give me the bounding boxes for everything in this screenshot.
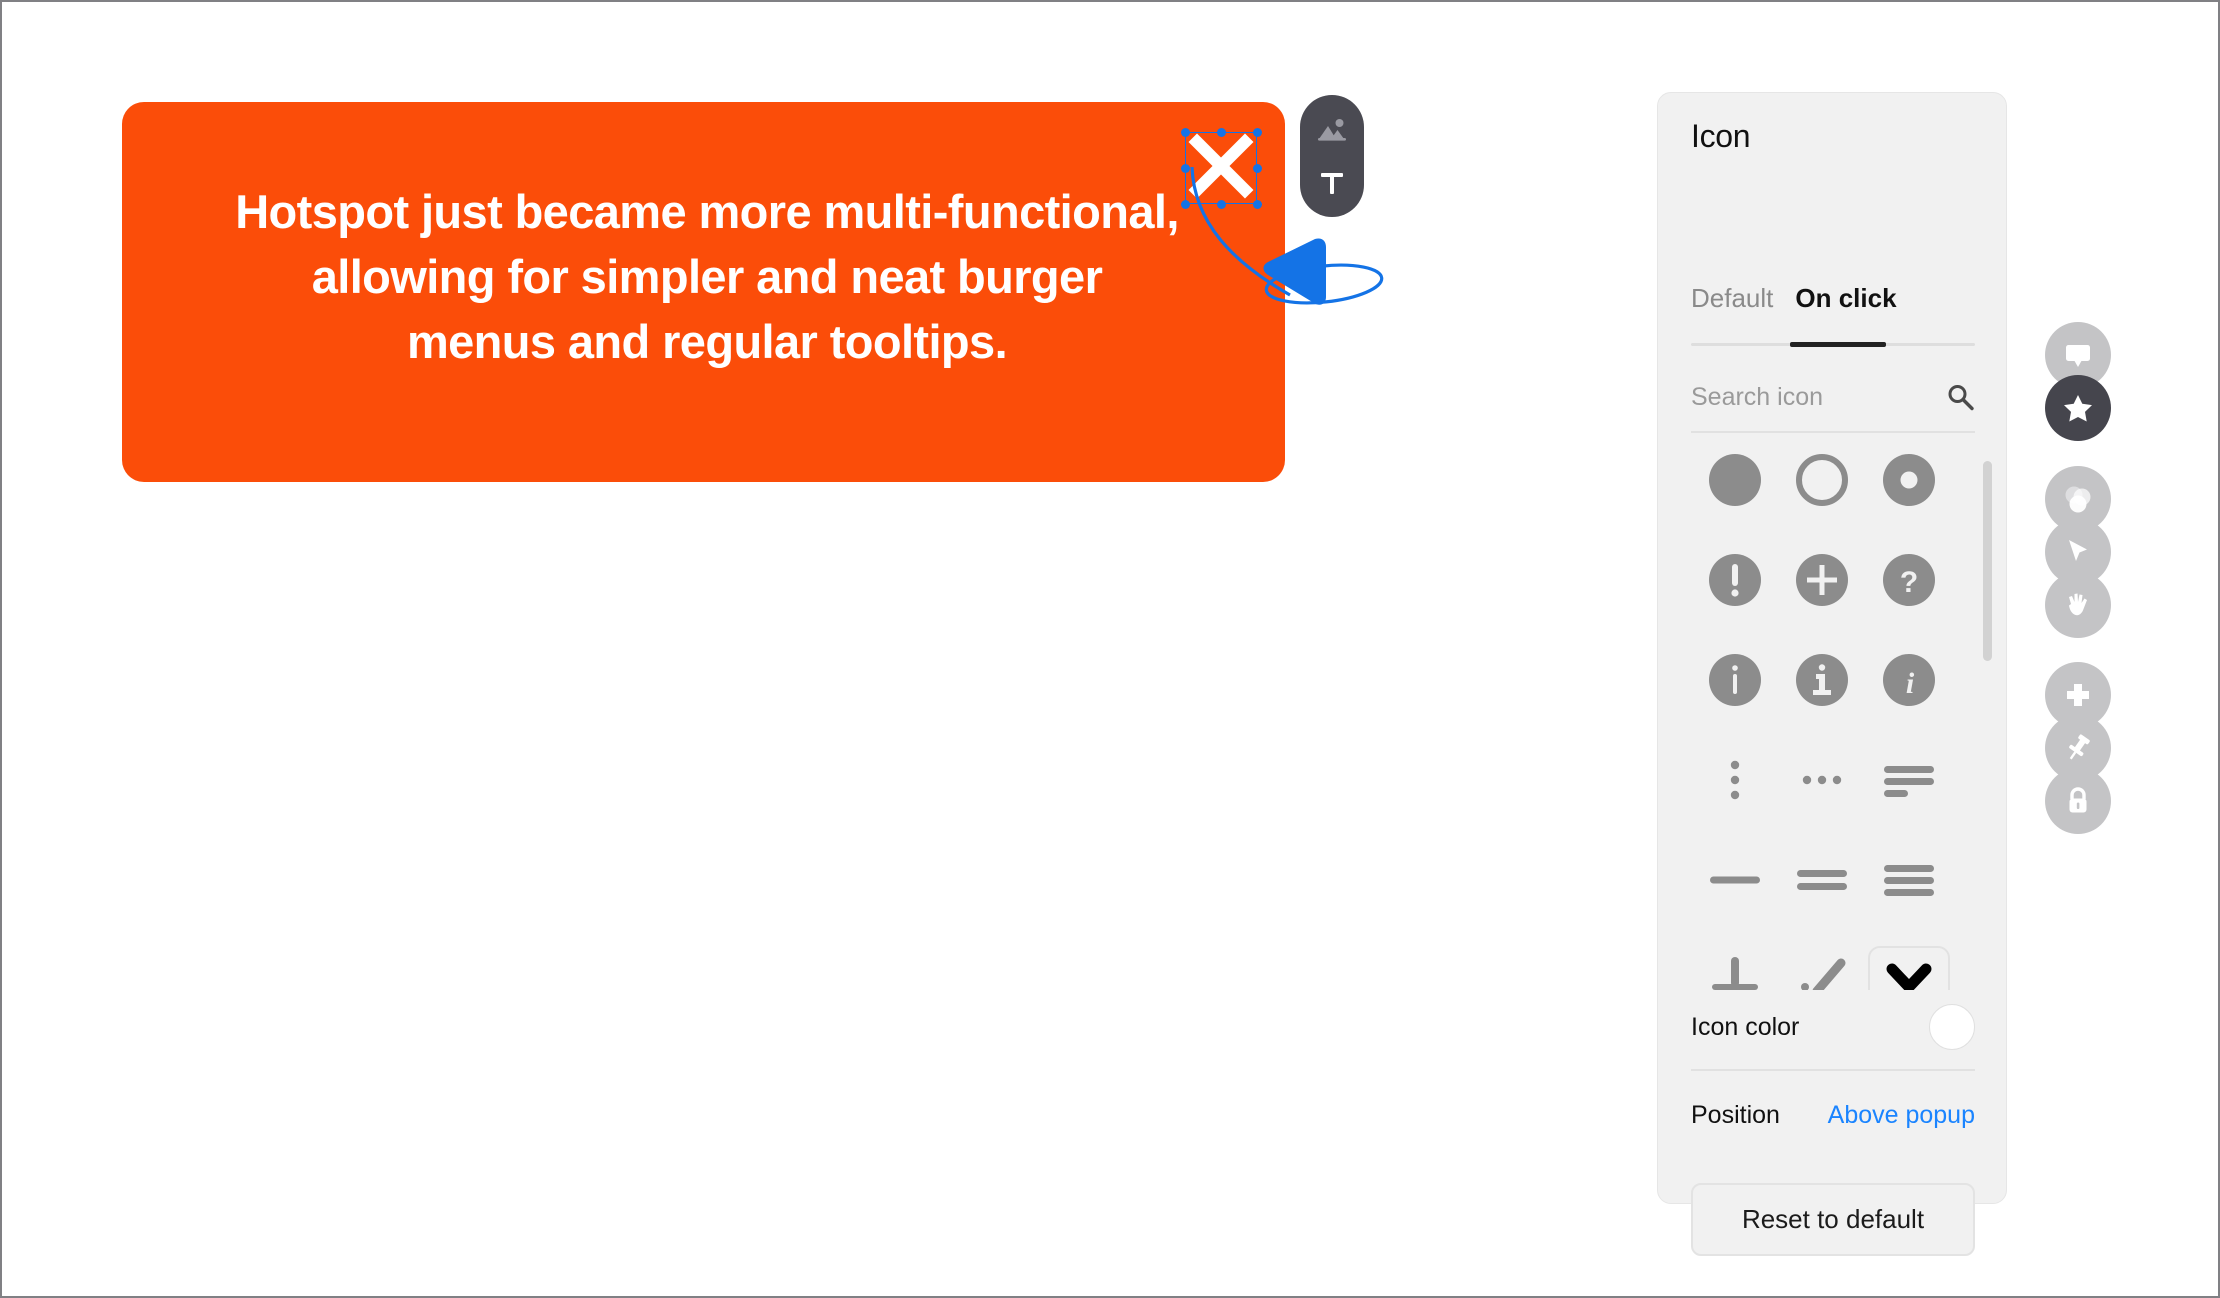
circle-outline-icon — [1793, 451, 1851, 509]
dots-vertical-icon — [1706, 751, 1764, 809]
single-line-icon — [1706, 851, 1764, 909]
rail-button-star[interactable] — [2045, 375, 2111, 441]
circle-dot-icon — [1880, 451, 1938, 509]
icon-option-circle-filled[interactable] — [1691, 445, 1778, 515]
info-circle-thin-icon — [1706, 651, 1764, 709]
two-lines-icon — [1793, 851, 1851, 909]
plus-circle-icon — [1793, 551, 1851, 609]
icon-option-info-italic[interactable]: i — [1866, 645, 1953, 715]
icon-option-plus-circle[interactable] — [1778, 545, 1865, 615]
exclamation-circle-icon — [1706, 551, 1764, 609]
info-circle-italic-icon: i — [1880, 651, 1938, 709]
close-x-icon[interactable] — [1185, 132, 1257, 204]
icon-option-circle-dot[interactable] — [1866, 445, 1953, 515]
cursor-icon — [2061, 535, 2095, 569]
selection-handle-bottom-left[interactable] — [1181, 200, 1190, 209]
icon-option-info-serif[interactable] — [1778, 645, 1865, 715]
question-circle-icon: ? — [1880, 551, 1938, 609]
selection-handle-top-right[interactable] — [1253, 128, 1262, 137]
svg-text:i: i — [1906, 667, 1915, 700]
icon-option-exclamation-circle[interactable] — [1691, 545, 1778, 615]
reset-to-default-button[interactable]: Reset to default — [1691, 1183, 1975, 1256]
selection-handle-middle-right[interactable] — [1253, 164, 1262, 173]
image-icon-button[interactable] — [1312, 110, 1352, 150]
selection-handle-middle-left[interactable] — [1181, 164, 1190, 173]
icon-option-diagonal-partial[interactable] — [1778, 945, 1865, 990]
media-type-toolbar[interactable] — [1300, 95, 1364, 217]
position-row: Position Above popup — [1691, 1083, 1975, 1147]
icon-grid-scrollbar-thumb[interactable] — [1983, 461, 1992, 661]
position-value[interactable]: Above popup — [1828, 1101, 1975, 1130]
icon-option-dots-vertical[interactable] — [1691, 745, 1778, 815]
icon-grid-scrollbar[interactable] — [1983, 453, 1992, 998]
icon-option-circle-outline[interactable] — [1778, 445, 1865, 515]
star-icon — [2061, 391, 2095, 425]
pin-icon — [2061, 731, 2095, 765]
info-circle-serif-icon — [1793, 651, 1851, 709]
svg-text:?: ? — [1900, 566, 1918, 599]
search-divider — [1691, 431, 1975, 433]
icon-settings-panel: Icon Default On click — [1657, 92, 2007, 1204]
hotspot-icon — [2061, 482, 2095, 516]
chevron-down-icon — [1880, 951, 1938, 990]
icon-color-swatch[interactable] — [1929, 1004, 1975, 1050]
icon-option-align-left-lines[interactable] — [1866, 745, 1953, 815]
lock-icon — [2061, 784, 2095, 818]
tab-default[interactable]: Default — [1691, 283, 1773, 350]
tab-on-click[interactable]: On click — [1795, 283, 1896, 350]
rail-button-hand[interactable] — [2045, 572, 2111, 638]
text-icon — [1318, 169, 1346, 197]
tooltip-icon — [2061, 338, 2095, 372]
icon-color-divider — [1691, 1069, 1975, 1071]
text-icon-button[interactable] — [1312, 163, 1352, 203]
icon-option-info-thin[interactable] — [1691, 645, 1778, 715]
selection-handle-bottom-center[interactable] — [1217, 200, 1226, 209]
search-row — [1691, 368, 1975, 426]
icon-option-question-circle[interactable]: ? — [1866, 545, 1953, 615]
search-icon[interactable] — [1945, 382, 1975, 412]
diagonal-partial-icon — [1793, 951, 1851, 990]
icon-option-two-lines[interactable] — [1778, 845, 1865, 915]
selection-handle-top-center[interactable] — [1217, 128, 1226, 137]
position-label: Position — [1691, 1101, 1780, 1130]
icon-grid-scroll-area[interactable]: ? — [1691, 445, 1975, 990]
close-x-icon-selection[interactable] — [1185, 132, 1257, 204]
hand-icon — [2061, 588, 2095, 622]
dots-horizontal-icon — [1793, 751, 1851, 809]
selection-handle-top-left[interactable] — [1181, 128, 1190, 137]
icon-color-row: Icon color — [1691, 991, 1975, 1063]
icon-grid: ? — [1691, 445, 1953, 990]
tool-rail — [2045, 322, 2111, 922]
tab-active-indicator — [1790, 342, 1886, 347]
panel-tabs: Default On click — [1691, 283, 1975, 350]
search-input[interactable] — [1691, 383, 1916, 412]
icon-option-single-line[interactable] — [1691, 845, 1778, 915]
icon-color-label: Icon color — [1691, 1013, 1799, 1042]
image-icon — [1317, 117, 1347, 143]
icon-option-dots-horizontal[interactable] — [1778, 745, 1865, 815]
icon-option-chevron-down[interactable] — [1866, 945, 1953, 990]
tooltip-body-text: Hotspot just became more multi-functiona… — [232, 180, 1182, 375]
anchor-partial-icon — [1706, 951, 1764, 990]
rail-button-lock[interactable] — [2045, 768, 2111, 834]
icon-option-burger-menu[interactable] — [1866, 845, 1953, 915]
panel-title: Icon — [1691, 118, 1750, 155]
burger-menu-icon — [1880, 851, 1938, 909]
crosshair-icon — [2061, 678, 2095, 712]
icon-option-anchor-partial[interactable] — [1691, 945, 1778, 990]
circle-filled-icon — [1706, 451, 1764, 509]
hotspot-tooltip-card[interactable]: Hotspot just became more multi-functiona… — [122, 102, 1285, 482]
selection-handle-bottom-right[interactable] — [1253, 200, 1262, 209]
canvas-root: Hotspot just became more multi-functiona… — [0, 0, 2220, 1298]
align-left-lines-icon — [1880, 751, 1938, 809]
